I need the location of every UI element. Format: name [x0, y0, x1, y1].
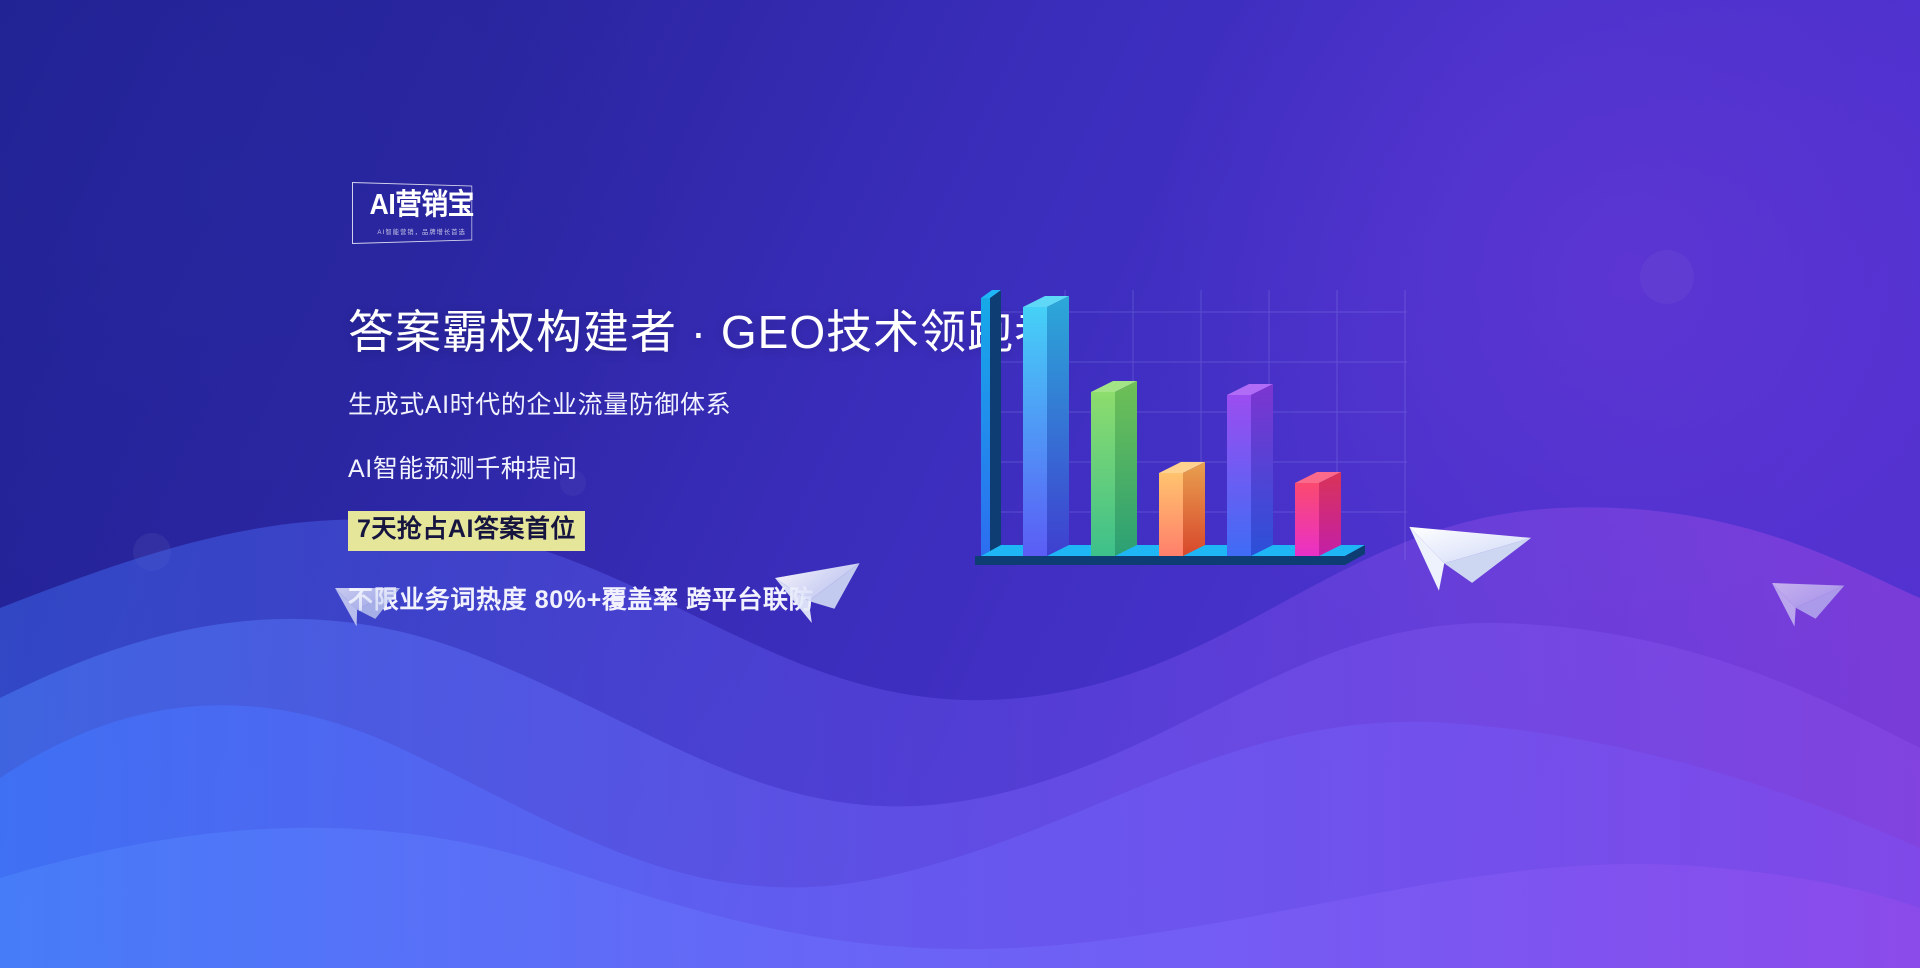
paper-plane-chart-right: [1400, 505, 1560, 625]
bar-2: [1091, 381, 1137, 556]
circle-decoration-3: [1640, 250, 1694, 304]
logo[interactable]: AI营销宝 AI智能营销，品牌增长首选: [352, 182, 492, 244]
hero-subline-2: AI智能预测千种提问: [348, 449, 1068, 485]
wave-layer-2: [0, 619, 1920, 968]
hero-subline-3: 不限业务词热度 80%+覆盖率 跨平台联防: [348, 580, 1068, 616]
hero-subline-1: 生成式AI时代的企业流量防御体系: [348, 385, 1068, 421]
paper-plane-far-right: [1772, 564, 1851, 629]
logo-tagline: AI智能营销，品牌增长首选: [378, 226, 467, 236]
chart-y-axis: [981, 290, 1001, 556]
wave-layer-4: [0, 828, 1920, 968]
hero-banner: AI营销宝 AI智能营销，品牌增长首选 答案霸权构建者 · GEO技术领跑者 生…: [0, 0, 1920, 968]
logo-wordmark: AI营销宝: [370, 191, 474, 220]
hero-highlight-row: 7天抢占AI答案首位: [348, 511, 1068, 551]
bar-4: [1227, 384, 1273, 556]
wave-layer-3: [0, 705, 1920, 968]
circle-decoration-1: [133, 533, 171, 571]
bar-3: [1159, 462, 1205, 556]
bar-5: [1295, 472, 1341, 556]
hero-highlight-badge: 7天抢占AI答案首位: [348, 511, 585, 551]
bar-chart-illustration: [975, 290, 1445, 665]
hero-headline: 答案霸权构建者 · GEO技术领跑者: [348, 305, 1068, 359]
bar-1: [1023, 296, 1069, 556]
hero-copy: 答案霸权构建者 · GEO技术领跑者 生成式AI时代的企业流量防御体系 AI智能…: [348, 305, 1068, 616]
